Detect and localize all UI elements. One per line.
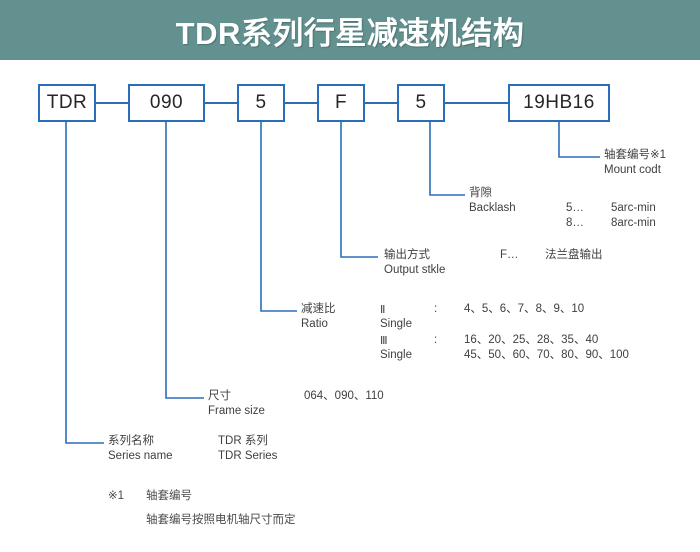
backlash-option-code-1: 8… <box>566 216 584 231</box>
annotation-output-style-en: Output stkle <box>384 263 445 278</box>
footnote-mark: ※1 <box>108 484 146 508</box>
leader-frame-size <box>166 122 204 398</box>
leader-mount-code <box>559 122 600 157</box>
series-name-value-en: TDR Series <box>218 449 277 464</box>
backlash-option-descs: 5arc-min 8arc-min <box>611 201 656 231</box>
backlash-option-code-0: 5… <box>566 201 584 216</box>
annotation-backlash: 背隙 Backlash <box>469 186 516 216</box>
footnote-text-2: 轴套编号按照电机轴尺寸而定 <box>146 514 296 526</box>
ratio-group-1-values-line-0: 16、20、25、28、35、40 <box>464 333 629 348</box>
diagram-connector-lines <box>0 0 700 552</box>
annotation-ratio: 减速比 Ratio <box>301 302 336 332</box>
output-style-option-code: F… <box>500 248 519 263</box>
footnote-text-1: 轴套编号 <box>146 490 192 502</box>
annotation-output-style-cn: 输出方式 <box>384 248 445 263</box>
series-name-values: TDR 系列 TDR Series <box>218 434 277 464</box>
annotation-mount-code-en: Mount codt <box>604 163 666 178</box>
annotation-series-name-cn: 系列名称 <box>108 434 173 449</box>
output-style-option-code-0: F… <box>500 248 519 263</box>
ratio-group-0-stage: Ⅱ Single <box>380 302 412 332</box>
annotation-frame-size: 尺寸 Frame size <box>208 389 265 419</box>
annotation-ratio-cn: 减速比 <box>301 302 336 317</box>
ratio-group-0-values: 4、5、6、7、8、9、10 <box>464 302 584 317</box>
ratio-group-1-stage: Ⅲ Single <box>380 333 412 363</box>
ratio-group-1-colon: : <box>434 333 437 348</box>
annotation-series-name-en: Series name <box>108 449 173 464</box>
series-name-value-cn: TDR 系列 <box>218 434 277 449</box>
code-box-backlash[interactable]: 5 <box>397 84 445 122</box>
annotation-backlash-en: Backlash <box>469 201 516 216</box>
annotation-ratio-en: Ratio <box>301 317 336 332</box>
leader-series-name <box>66 122 104 443</box>
code-box-frame-size[interactable]: 090 <box>128 84 205 122</box>
annotation-series-name: 系列名称 Series name <box>108 434 173 464</box>
annotation-output-style: 输出方式 Output stkle <box>384 248 445 278</box>
leader-backlash <box>430 122 465 195</box>
code-box-ratio[interactable]: 5 <box>237 84 285 122</box>
frame-size-values: 064、090、110 <box>304 389 384 404</box>
annotation-mount-code-cn: 轴套编号※1 <box>604 148 666 163</box>
ratio-group-1-values-line-1: 45、50、60、70、80、90、100 <box>464 348 629 363</box>
output-style-option-desc-0: 法兰盘输出 <box>545 248 603 263</box>
ratio-group-0-colon: : <box>434 302 437 317</box>
ratio-group-1-stage-en: Single <box>380 348 412 363</box>
leader-output-style <box>341 122 378 257</box>
ratio-group-0-values-line: 4、5、6、7、8、9、10 <box>464 302 584 317</box>
ratio-group-0-stage-en: Single <box>380 317 412 332</box>
annotation-mount-code: 轴套编号※1 Mount codt <box>604 148 666 178</box>
code-box-series[interactable]: TDR <box>38 84 96 122</box>
ratio-group-1-stage-cn: Ⅲ <box>380 333 412 348</box>
output-style-option-desc: 法兰盘输出 <box>545 248 603 263</box>
backlash-option-codes: 5… 8… <box>566 201 584 231</box>
ratio-group-1-sep: : <box>434 333 437 348</box>
ratio-group-0-stage-cn: Ⅱ <box>380 302 412 317</box>
code-box-mount-code[interactable]: 19HB16 <box>508 84 610 122</box>
frame-size-values-line: 064、090、110 <box>304 389 384 404</box>
footnote-line-2: 轴套编号按照电机轴尺寸而定 <box>146 508 296 532</box>
annotation-backlash-cn: 背隙 <box>469 186 516 201</box>
annotation-frame-size-en: Frame size <box>208 404 265 419</box>
code-box-output-style[interactable]: F <box>317 84 365 122</box>
leader-ratio <box>261 122 297 311</box>
ratio-group-0-sep: : <box>434 302 437 317</box>
footnote-line-1: ※1轴套编号 <box>108 484 192 508</box>
annotation-frame-size-cn: 尺寸 <box>208 389 265 404</box>
backlash-option-desc-1: 8arc-min <box>611 216 656 231</box>
ratio-group-1-values: 16、20、25、28、35、40 45、50、60、70、80、90、100 <box>464 333 629 363</box>
backlash-option-desc-0: 5arc-min <box>611 201 656 216</box>
